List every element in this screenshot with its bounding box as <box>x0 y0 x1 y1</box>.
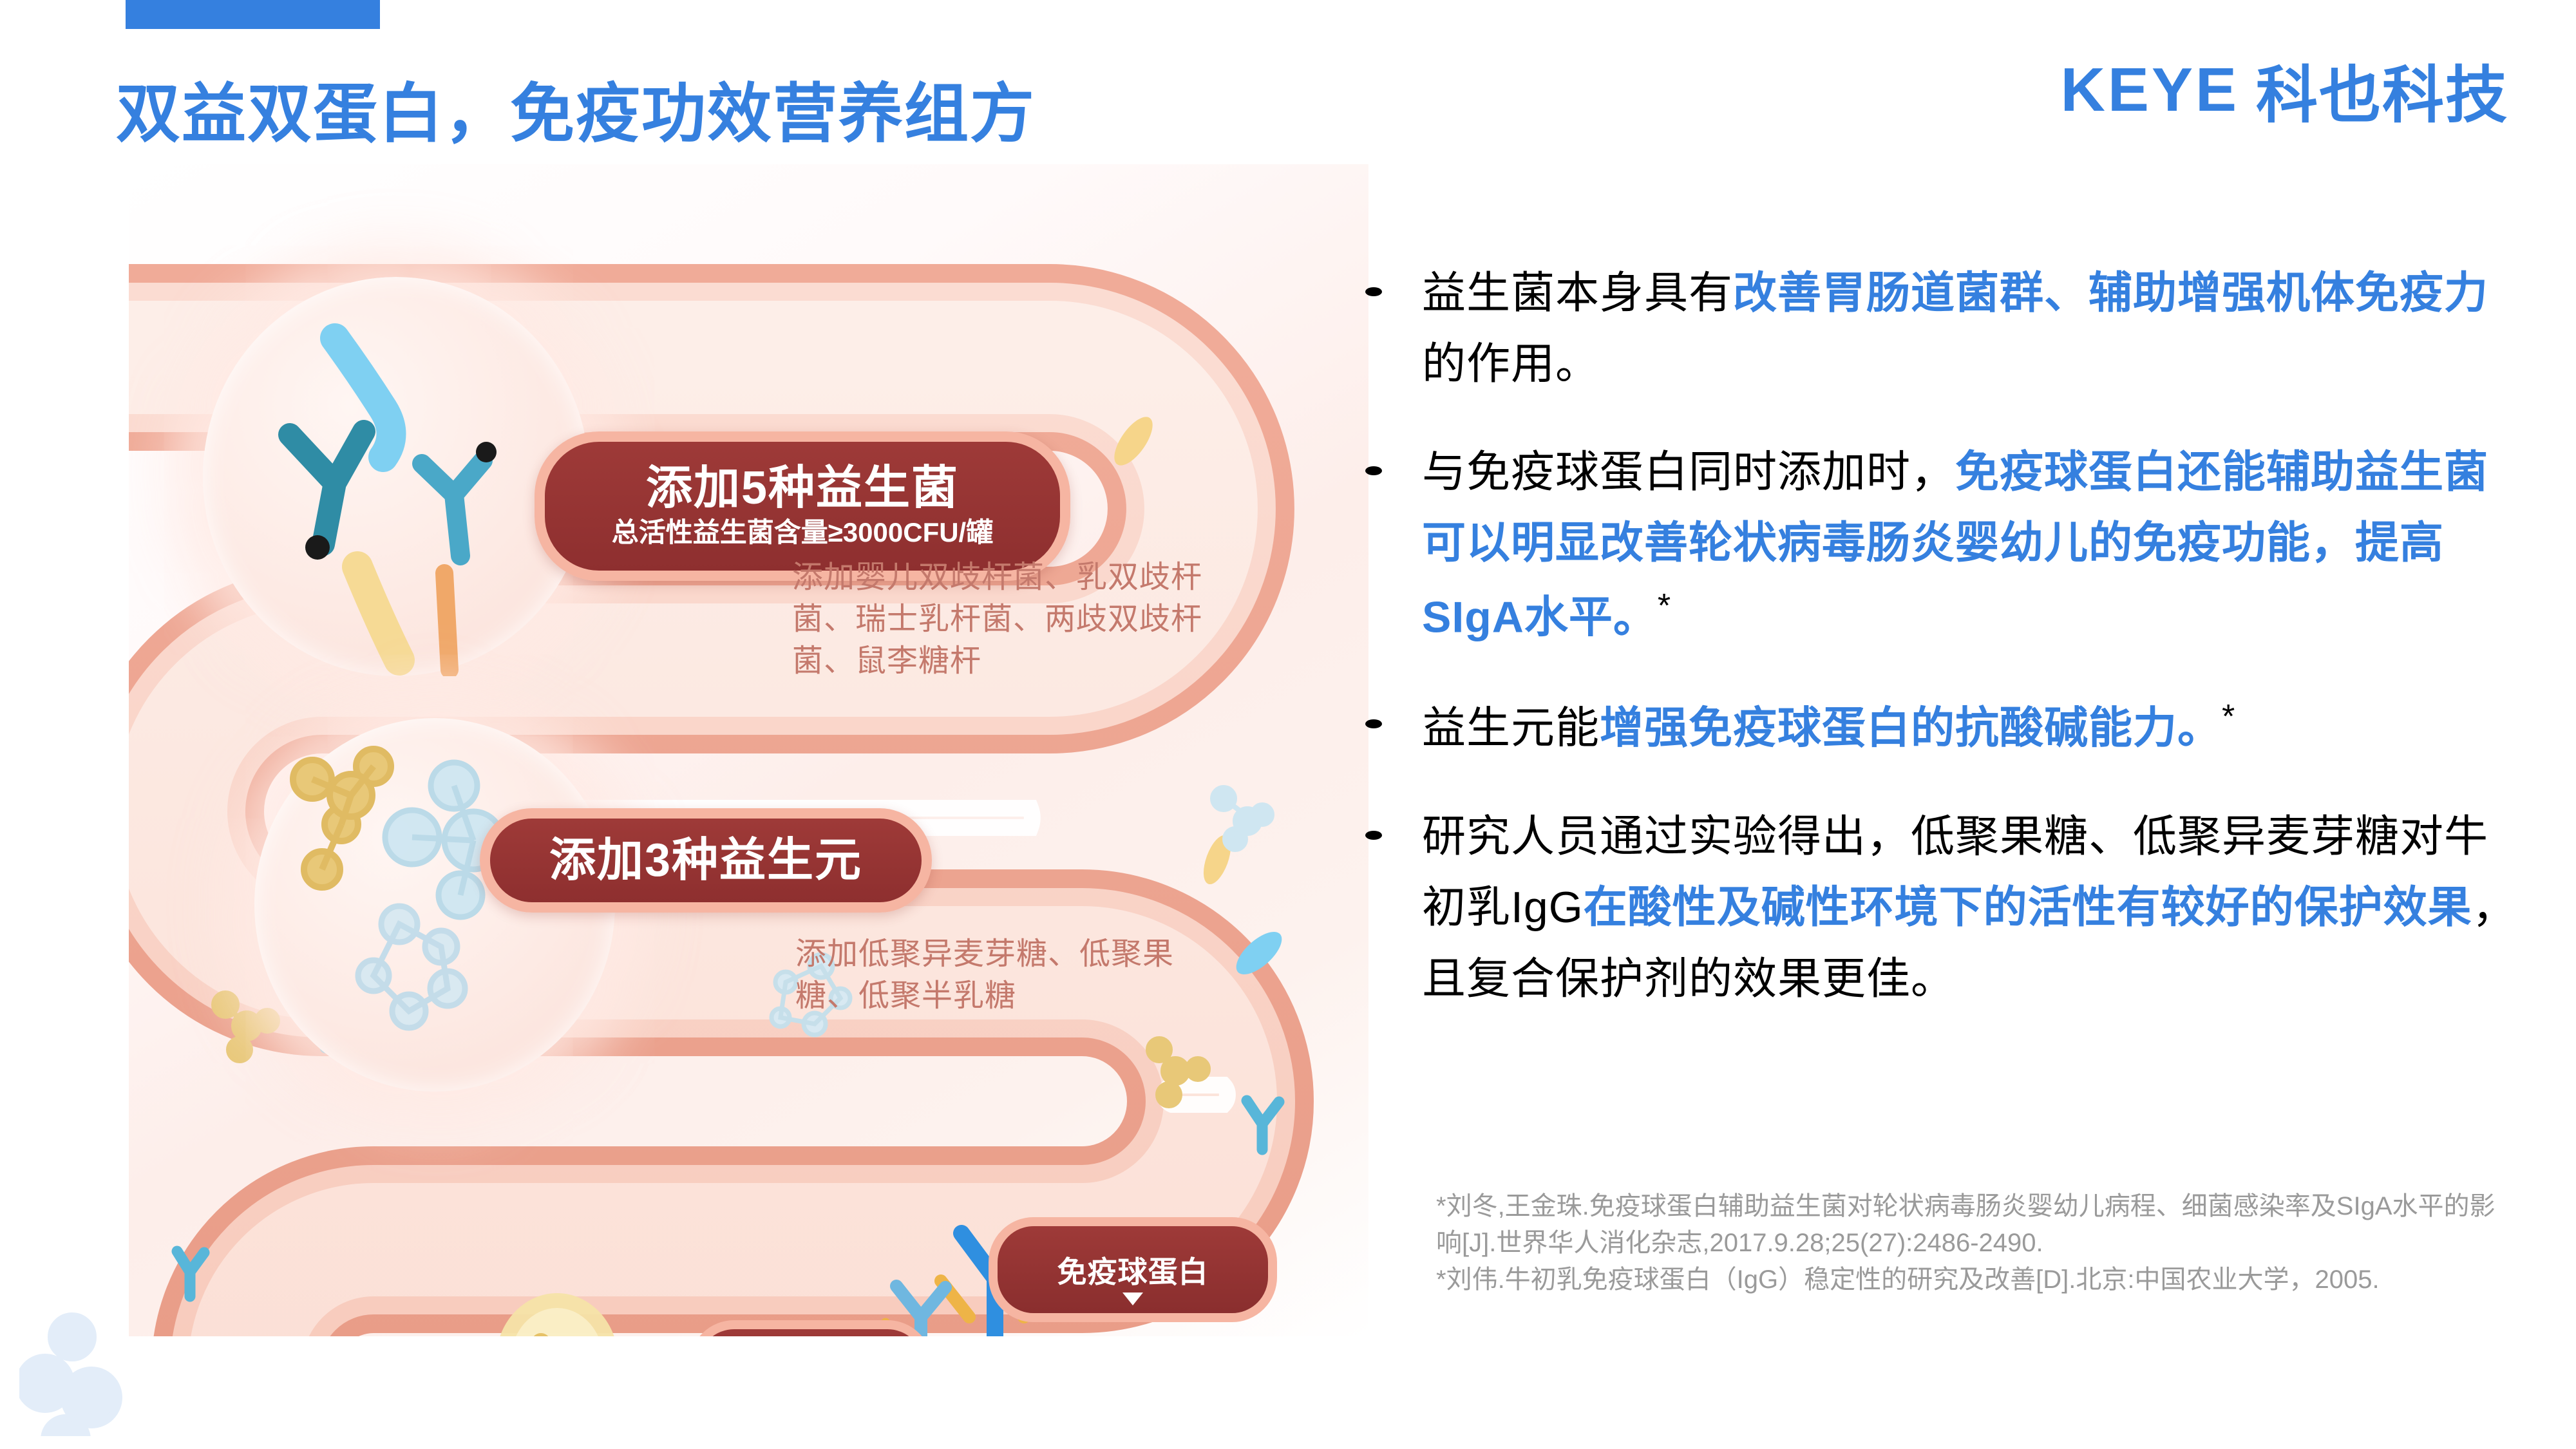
decorative-molecule-icon <box>19 1307 213 1439</box>
bullet-segment-highlight: 改善胃肠道菌群、辅助增强机体免疫力 <box>1733 269 2488 317</box>
intestine-illustration-panel: 添加5种益生菌 总活性益生菌含量≥3000CFU/罐 添加婴儿双歧杆菌、乳双歧杆… <box>129 164 1368 1336</box>
list-item: 益生元能增强免疫球蛋白的抗酸碱能力。* <box>1365 690 2518 764</box>
immunoglobulin-label: 免疫球蛋白 <box>989 1217 1277 1322</box>
list-item: 益生菌本身具有改善胃肠道菌群、辅助增强机体免疫力的作用。 <box>1365 258 2518 399</box>
bullet-segment: 与免疫球蛋白同时添加时， <box>1422 448 1955 497</box>
bullet-dot-icon <box>1365 831 1382 840</box>
prebiotic-pill-label: 添加3种益生元 <box>480 808 932 913</box>
logo-wordmark: KEYE <box>2061 55 2239 126</box>
bullet-dot-icon <box>1365 466 1382 475</box>
prebiotic-pill-main: 添加3种益生元 <box>549 837 862 884</box>
bullet-text-2: 与免疫球蛋白同时添加时，免疫球蛋白还能辅助益生菌可以明显改善轮状病毒肠炎婴幼儿的… <box>1422 437 2518 652</box>
bullet-dot-icon <box>1365 719 1382 728</box>
immunoglobulin-label-text: 免疫球蛋白 <box>1057 1249 1209 1291</box>
bullet-segment: 益生元能 <box>1422 704 1600 753</box>
bullet-segment-highlight: 在酸性及碱性环境下的活性有较好的保护效果 <box>1584 883 2472 932</box>
list-item: 研究人员通过实验得出，低聚果糖、低聚异麦芽糖对牛初乳IgG在酸性及碱性环境下的活… <box>1365 801 2518 1014</box>
reference-item: *刘伟.牛初乳免疫球蛋白（IgG）稳定性的研究及改善[D].北京:中国农业大学，… <box>1436 1262 2518 1298</box>
footnote-marker: * <box>2222 698 2235 735</box>
logo-chinese-name: 科也科技 <box>2256 45 2508 135</box>
bullet-segment-highlight: 增强免疫球蛋白的抗酸碱能力。 <box>1600 704 2222 753</box>
accent-bar <box>126 0 380 29</box>
prebiotic-description: 添加低聚异麦芽糖、低聚果糖、低聚半乳糖 <box>795 934 1182 1018</box>
lactoferrin-label: 乳铁蛋白 <box>689 1320 933 1336</box>
probiotic-description: 添加婴儿双歧杆菌、乳双歧杆菌、瑞士乳杆菌、两歧双歧杆菌、鼠李糖杆 <box>792 557 1262 682</box>
bullet-segment: 的作用。 <box>1422 339 1600 388</box>
bullet-text-1: 益生菌本身具有改善胃肠道菌群、辅助增强机体免疫力的作用。 <box>1422 258 2518 399</box>
probiotic-pill-sub: 总活性益生菌含量≥3000CFU/罐 <box>612 518 993 547</box>
footnote-marker: * <box>1658 587 1671 625</box>
caret-down-icon <box>1122 1293 1143 1305</box>
bullet-list: 益生菌本身具有改善胃肠道菌群、辅助增强机体免疫力的作用。 与免疫球蛋白同时添加时… <box>1365 258 2518 1052</box>
bullet-segment: 益生菌本身具有 <box>1422 269 1733 317</box>
bullet-dot-icon <box>1365 287 1382 296</box>
bullet-text-4: 研究人员通过实验得出，低聚果糖、低聚异麦芽糖对牛初乳IgG在酸性及碱性环境下的活… <box>1422 801 2518 1014</box>
probiotic-zoom-bubble <box>203 277 589 676</box>
reference-list: *刘冬,王金珠.免疫球蛋白辅助益生菌对轮状病毒肠炎婴幼儿病程、细菌感染率及SIg… <box>1436 1188 2518 1298</box>
probiotic-pill-main: 添加5种益生菌 <box>646 465 959 511</box>
brand-logo: KEYE 科也科技 <box>2061 45 2508 135</box>
list-item: 与免疫球蛋白同时添加时，免疫球蛋白还能辅助益生菌可以明显改善轮状病毒肠炎婴幼儿的… <box>1365 437 2518 652</box>
reference-item: *刘冬,王金珠.免疫球蛋白辅助益生菌对轮状病毒肠炎婴幼儿病程、细菌感染率及SIg… <box>1436 1188 2518 1262</box>
bullet-text-3: 益生元能增强免疫球蛋白的抗酸碱能力。* <box>1422 690 2235 764</box>
page-title: 双益双蛋白，免疫功效营养组方 <box>116 61 1036 155</box>
slide-root: 双益双蛋白，免疫功效营养组方 KEYE 科也科技 <box>0 0 2576 1449</box>
